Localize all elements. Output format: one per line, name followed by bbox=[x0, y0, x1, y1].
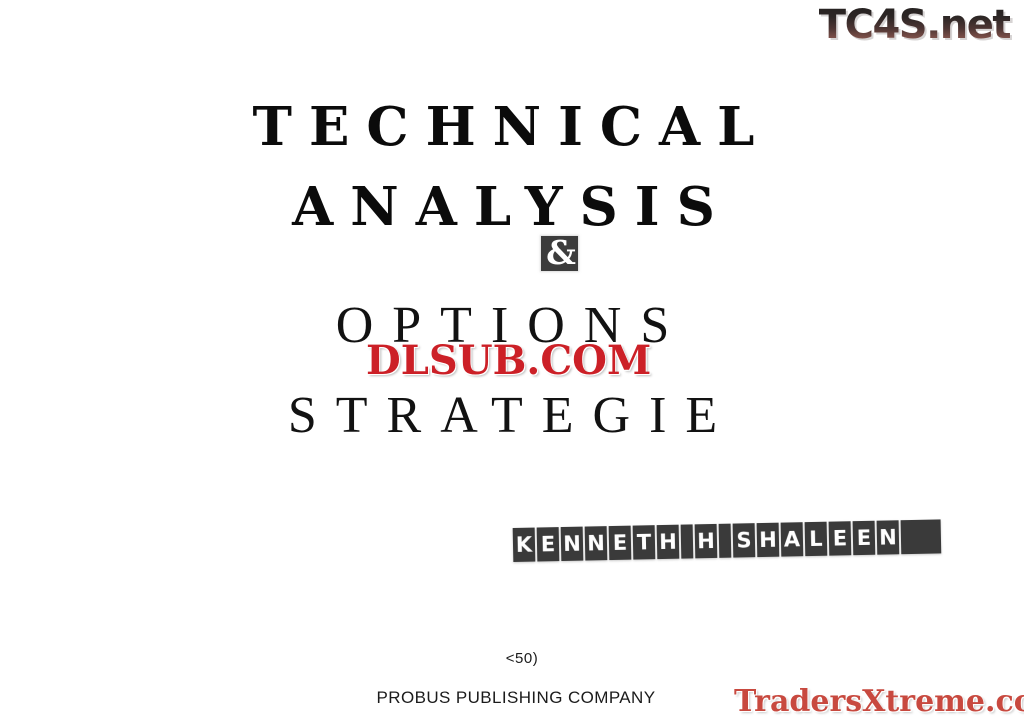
dlsub-watermark: DLSUB.COM bbox=[366, 339, 651, 383]
author-tile: E bbox=[537, 527, 560, 561]
author-tile: N bbox=[877, 520, 900, 554]
title-line-technical: TECHNICAL bbox=[0, 96, 1024, 158]
author-tile: E bbox=[829, 521, 852, 555]
publisher-text: PROBUS PUBLISHING COMPANY bbox=[377, 688, 656, 707]
author-tile: L bbox=[805, 522, 828, 556]
author-tile-spacer bbox=[901, 519, 942, 554]
author-tile: N bbox=[561, 527, 584, 561]
author-tile: A bbox=[781, 522, 804, 556]
author-tile: H bbox=[757, 523, 780, 557]
title-line-analysis: ANALYSIS bbox=[0, 176, 1024, 238]
author-tile: N bbox=[585, 526, 608, 560]
author-tile: K bbox=[513, 528, 536, 562]
title-line-strategie: STRATEGIE bbox=[0, 386, 1024, 445]
author-tile: E bbox=[853, 521, 876, 555]
author-name-band: KENNETHHSHALEEN bbox=[513, 519, 942, 562]
author-tile: E bbox=[609, 526, 632, 560]
author-tile-spacer bbox=[681, 524, 694, 558]
author-tile: H bbox=[695, 524, 718, 558]
tc4s-watermark: TC4S.net bbox=[819, 2, 1010, 48]
ampersand-glyph: & bbox=[544, 236, 578, 270]
book-cover-scan: TC4S.net TC4S.net TECHNICAL ANALYSIS & O… bbox=[0, 0, 1024, 724]
page-number: <50) bbox=[0, 650, 1024, 667]
author-tile: T bbox=[633, 525, 656, 559]
tradersxtreme-watermark: TradersXtreme.com bbox=[734, 684, 1024, 720]
page-number-text: <50) bbox=[506, 650, 538, 667]
author-tile: H bbox=[657, 525, 680, 559]
author-tile-spacer bbox=[719, 524, 732, 558]
ampersand-block: & bbox=[541, 236, 578, 271]
author-tile: S bbox=[733, 523, 756, 557]
